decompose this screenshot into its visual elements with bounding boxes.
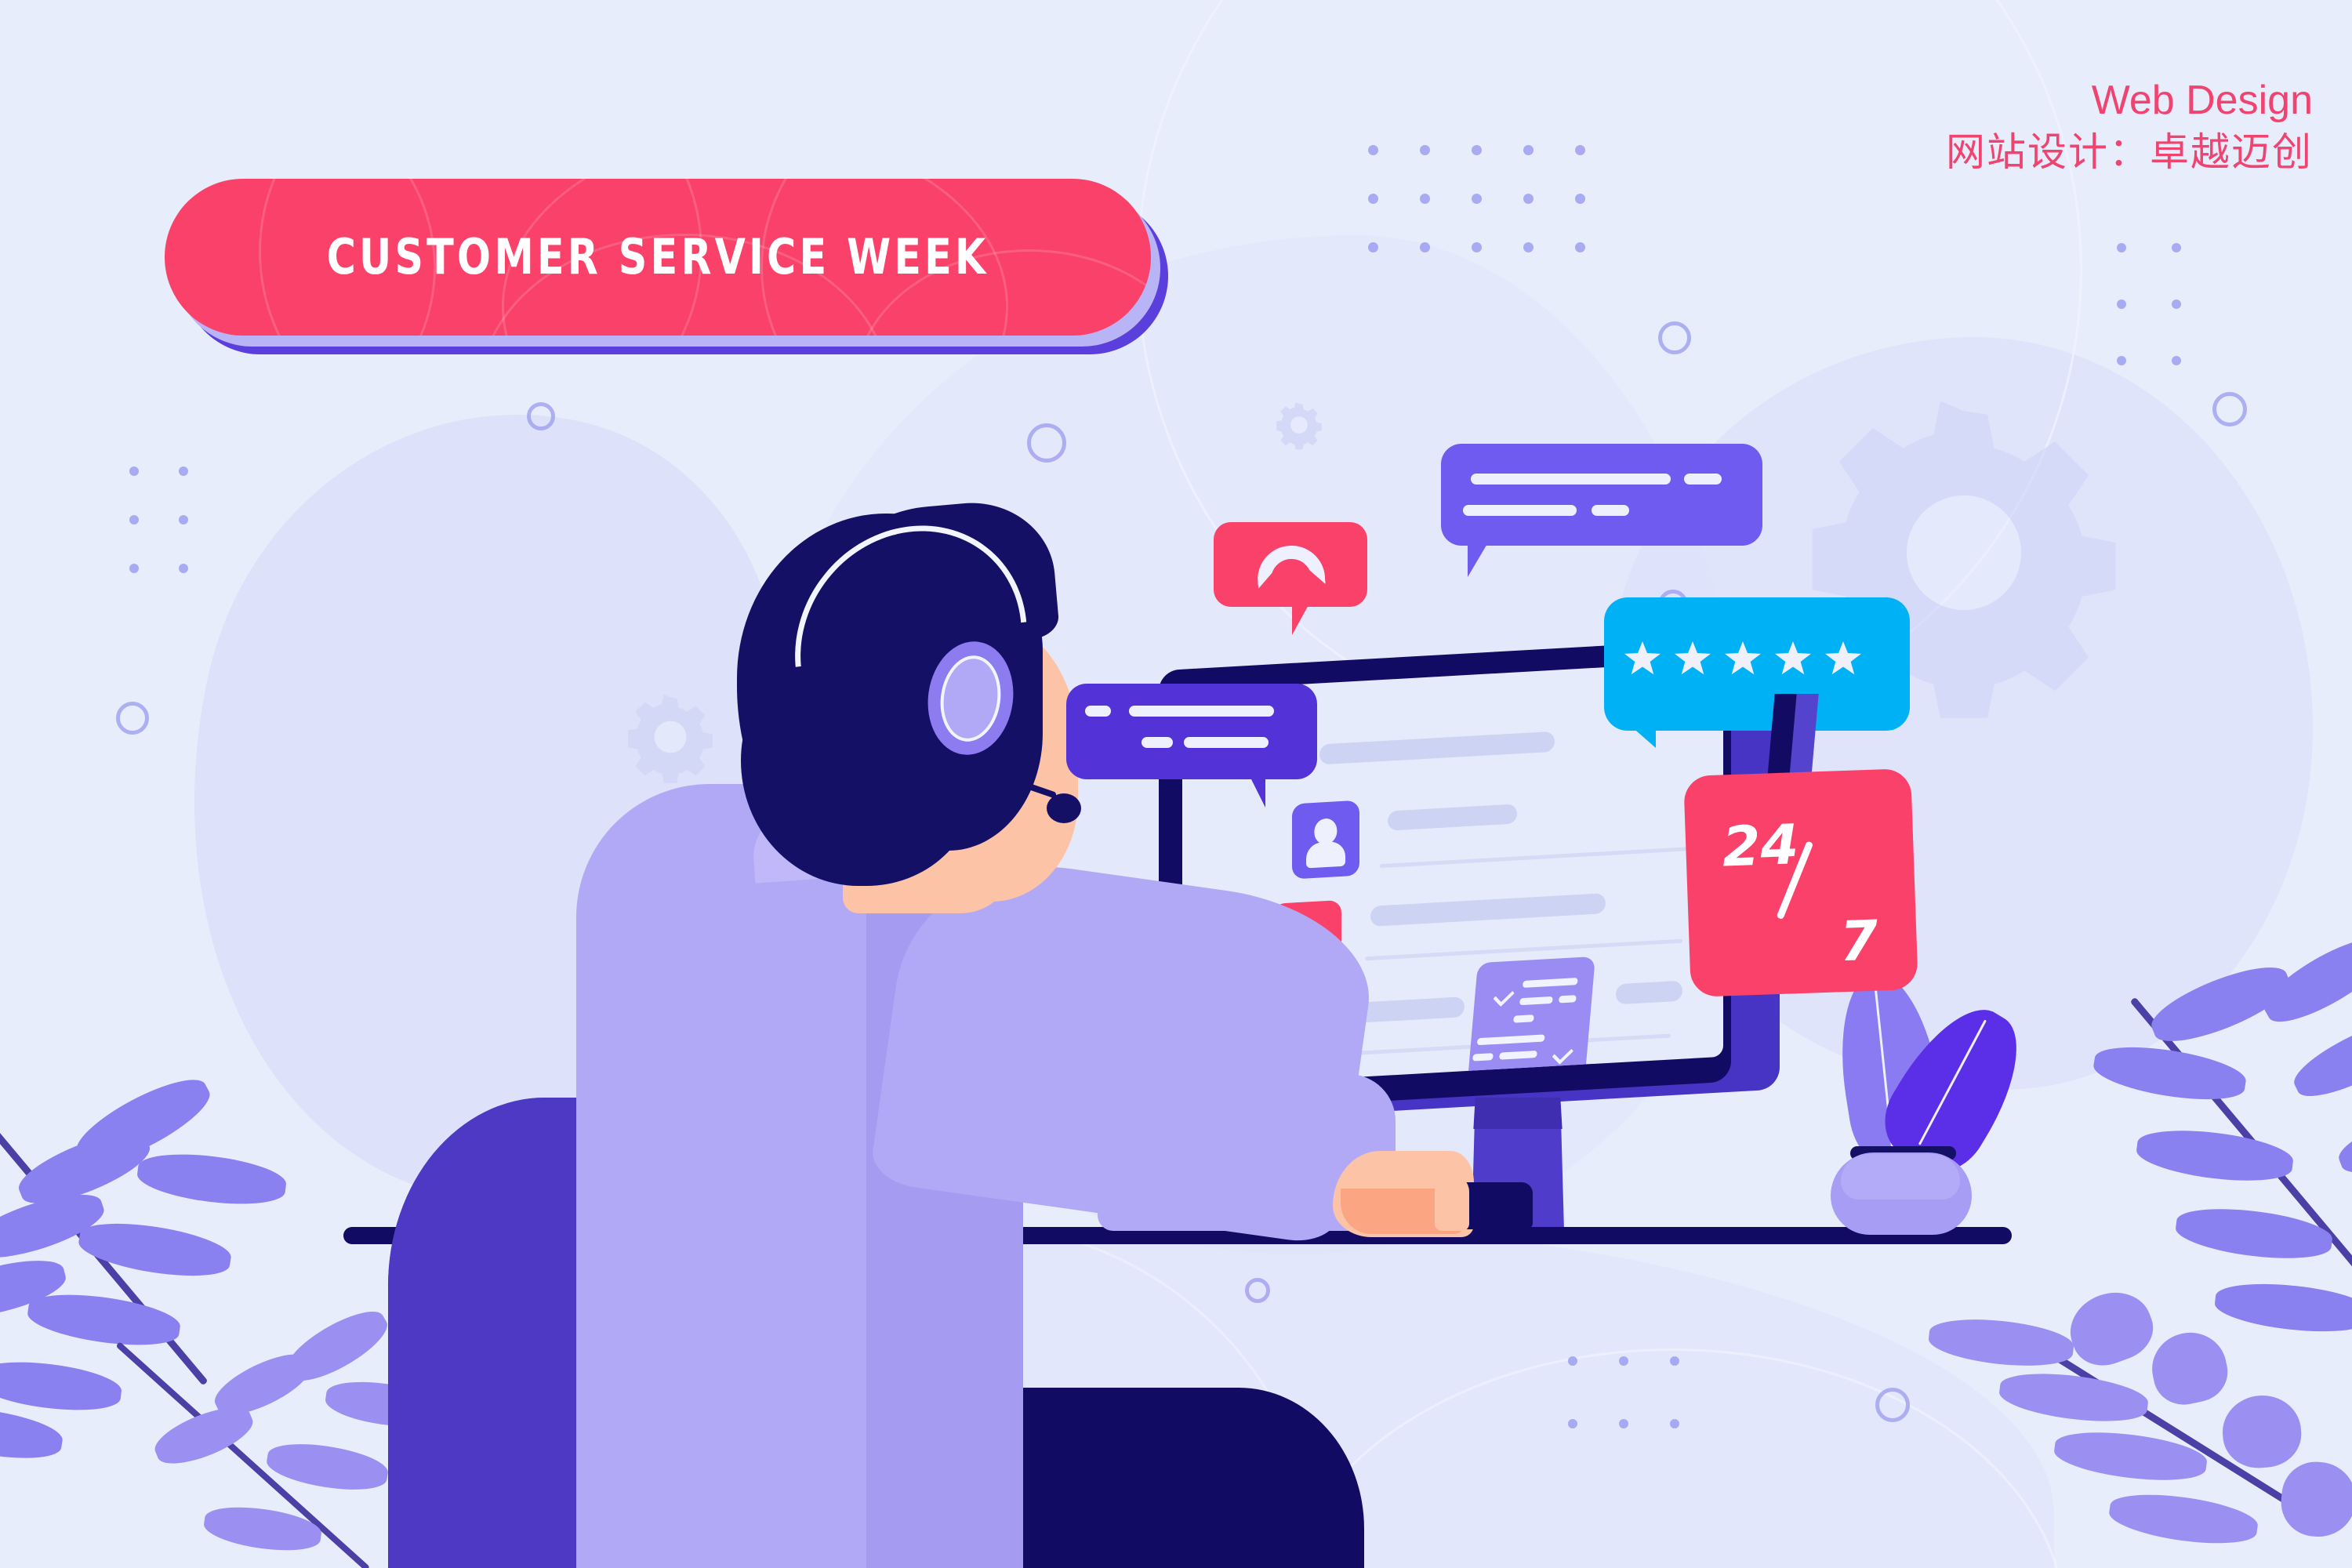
plant-pot-highlight: [1841, 1154, 1960, 1200]
gear-icon-small: [623, 690, 717, 784]
chat-bubble-top-right[interactable]: [1441, 444, 1762, 546]
ring-outline-7: [1875, 1388, 1910, 1422]
dot-grid-top: [1368, 145, 1627, 291]
star-rating: [1624, 641, 1861, 676]
ring-outline-3: [1658, 321, 1691, 354]
chat-bubble-left[interactable]: [1066, 684, 1317, 779]
star-icon: [1775, 641, 1811, 676]
dot-grid-left: [129, 466, 228, 612]
phone-handset-icon: [1255, 543, 1325, 589]
star-icon: [1725, 641, 1761, 676]
rating-bubble-tail: [1604, 715, 1656, 748]
illustration-canvas: Web Design 网站设计：卓越迈创 CUSTOMER SERVICE WE…: [0, 0, 2352, 1568]
agent-finger: [1435, 1174, 1469, 1231]
screen-line-top: [1319, 731, 1555, 765]
ring-outline-8: [1245, 1278, 1270, 1303]
banner[interactable]: CUSTOMER SERVICE WEEK: [165, 179, 1168, 355]
screen-row3-line-c: [1616, 981, 1682, 1005]
ring-outline-6: [116, 702, 149, 735]
check-icon-1: [1493, 985, 1515, 1007]
star-icon: [1624, 641, 1661, 676]
screen-row2-line-b: [1365, 939, 1682, 961]
screen-row1-line-b: [1380, 846, 1709, 868]
badge-247[interactable]: 24 7: [1683, 768, 1918, 997]
screen-row2-line-a: [1370, 893, 1606, 927]
chat-bubble-tail: [1468, 543, 1523, 577]
banner-title: CUSTOMER SERVICE WEEK: [253, 179, 1062, 336]
chat-bubble-tail: [1220, 773, 1265, 808]
monitor-stand-shadow: [1472, 1098, 1564, 1129]
dot-grid-bottom: [1568, 1356, 1721, 1482]
headset-icon-mic-tip: [1047, 793, 1081, 823]
credit-english: Web Design: [1946, 74, 2313, 127]
credit-chinese: 网站设计：卓越迈创: [1946, 127, 2313, 177]
badge-247-days: 7: [1838, 909, 1879, 975]
ring-outline-1: [527, 402, 555, 430]
gear-icon-tiny: [1274, 400, 1324, 450]
fern-right-front: [1952, 1278, 2352, 1568]
chat-bubble-phone[interactable]: [1214, 522, 1367, 607]
chat-bubble-tail: [1292, 604, 1328, 635]
star-icon: [1825, 641, 1861, 676]
badge-247-hours: 24: [1721, 812, 1799, 879]
banner-pill: CUSTOMER SERVICE WEEK: [165, 179, 1151, 336]
dot-grid-right: [2117, 243, 2227, 412]
credit-block: Web Design 网站设计：卓越迈创: [1946, 74, 2313, 177]
screen-row1-line-a: [1388, 804, 1517, 830]
user-icon: [1314, 818, 1337, 844]
ring-outline-2: [1027, 423, 1066, 463]
star-icon: [1675, 641, 1711, 676]
check-icon-2: [1552, 1043, 1573, 1065]
screen-row-avatar-1[interactable]: [1292, 800, 1359, 880]
rating-bubble[interactable]: [1604, 597, 1910, 731]
ring-outline-5: [2212, 392, 2247, 426]
